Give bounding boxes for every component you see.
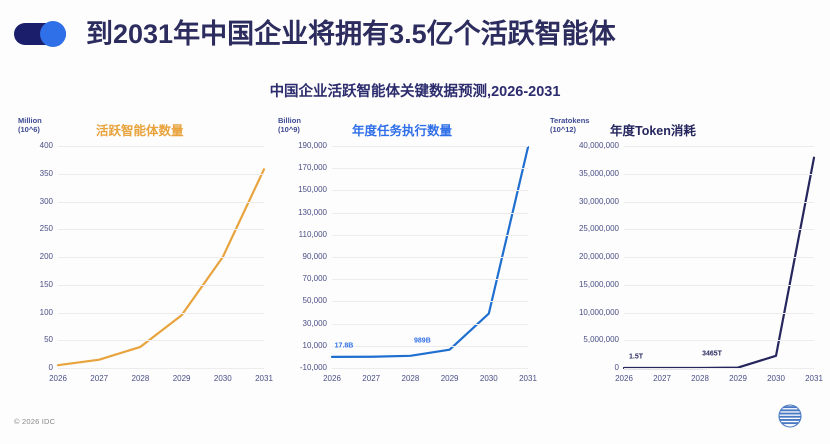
chart-x-tick-label: 2030 (214, 375, 232, 383)
chart-panel-annual-tasks: Billion (10^9) 年度任务执行数量 -10,00010,00030,… (274, 112, 536, 402)
chart-unit-label: Teratokens (10^12) (550, 116, 589, 135)
chart-series-path (624, 158, 814, 368)
chart-series-path (332, 147, 528, 357)
chart-x-tick-label: 2031 (805, 375, 823, 383)
chart-y-tick-label: 25,000,000 (579, 225, 619, 233)
chart-y-tick-label: 30,000,000 (579, 198, 619, 206)
chart-gridline (332, 324, 528, 325)
chart-y-tick-label: 50,000 (303, 297, 327, 305)
chart-gridline (58, 146, 264, 147)
chart-unit-line2: (10^12) (550, 125, 589, 134)
chart-unit-line2: (10^6) (18, 125, 42, 134)
chart-x-tick-label: 2030 (480, 375, 498, 383)
chart-gridline (624, 257, 814, 258)
chart-gridline (624, 229, 814, 230)
chart-gridline (58, 174, 264, 175)
chart-plot-area: 0501001502002503003504002026202720282029… (58, 146, 264, 368)
chart-y-tick-label: 50 (44, 336, 53, 344)
chart-y-tick-label: 200 (40, 253, 53, 261)
chart-gridline (332, 279, 528, 280)
chart-x-tick-label: 2029 (729, 375, 747, 383)
chart-x-tick-label: 2029 (173, 375, 191, 383)
chart-x-tick-label: 2026 (49, 375, 67, 383)
chart-x-tick-label: 2028 (401, 375, 419, 383)
chart-y-tick-label: 20,000,000 (579, 253, 619, 261)
chart-group-subtitle: 中国企业活跃智能体关键数据预测,2026-2031 (0, 80, 830, 101)
chart-x-tick-label: 2026 (615, 375, 633, 383)
chart-y-tick-label: 250 (40, 225, 53, 233)
chart-gridline (624, 146, 814, 147)
chart-unit-line1: Billion (278, 116, 301, 125)
chart-y-tick-label: 10,000,000 (579, 309, 619, 317)
chart-gridline (624, 285, 814, 286)
chart-y-tick-label: 70,000 (303, 275, 327, 283)
chart-gridline (58, 368, 264, 369)
chart-gridline (58, 285, 264, 286)
copyright-text: © 2026 IDC (14, 417, 55, 426)
chart-gridline (58, 257, 264, 258)
slide-header: 到2031年中国企业将拥有3.5亿个活跃智能体 (0, 8, 830, 60)
chart-gridline (58, 313, 264, 314)
chart-gridline (624, 313, 814, 314)
chart-y-tick-label: 90,000 (303, 253, 327, 261)
chart-plot-area: -10,00010,00030,00050,00070,00090,000110… (332, 146, 528, 368)
chart-plot-area: 05,000,00010,000,00015,000,00020,000,000… (624, 146, 814, 368)
chart-data-annotation: 3465T (702, 350, 722, 357)
chart-x-tick-label: 2027 (362, 375, 380, 383)
chart-y-tick-label: 150 (40, 281, 53, 289)
chart-y-tick-label: 100 (40, 309, 53, 317)
chart-y-tick-label: 40,000,000 (579, 142, 619, 150)
chart-y-tick-label: 15,000,000 (579, 281, 619, 289)
chart-gridline (332, 346, 528, 347)
chart-unit-label: Million (10^6) (18, 116, 42, 135)
idc-globe-logo-icon (774, 400, 806, 432)
chart-unit-line1: Teratokens (550, 116, 589, 125)
chart-x-tick-label: 2026 (323, 375, 341, 383)
chart-gridline (332, 257, 528, 258)
chart-y-tick-label: 35,000,000 (579, 170, 619, 178)
chart-gridline (332, 190, 528, 191)
chart-x-tick-label: 2031 (255, 375, 273, 383)
chart-y-tick-label: 170,000 (298, 164, 327, 172)
charts-row: Million (10^6) 活跃智能体数量 05010015020025030… (0, 112, 830, 402)
chart-unit-line2: (10^9) (278, 125, 301, 134)
chart-data-annotation: 1.5T (629, 353, 643, 360)
chart-y-tick-label: 110,000 (299, 231, 327, 239)
chart-y-tick-label: 190,000 (298, 142, 327, 150)
pill-dot-icon (14, 21, 80, 47)
chart-x-tick-label: 2028 (691, 375, 709, 383)
chart-gridline (332, 301, 528, 302)
chart-gridline (58, 340, 264, 341)
slide-canvas: 到2031年中国企业将拥有3.5亿个活跃智能体 中国企业活跃智能体关键数据预测,… (0, 0, 830, 444)
chart-gridline (332, 235, 528, 236)
chart-data-annotation: 17.8B (335, 342, 354, 349)
chart-gridline (624, 174, 814, 175)
page-title: 到2031年中国企业将拥有3.5亿个活跃智能体 (86, 21, 616, 48)
chart-title: 活跃智能体数量 (96, 120, 184, 139)
chart-y-tick-label: 400 (40, 142, 53, 150)
chart-y-tick-label: 0 (615, 364, 619, 372)
chart-gridline (332, 368, 528, 369)
chart-title: 年度Token消耗 (610, 120, 696, 139)
chart-y-tick-label: 30,000 (303, 320, 327, 328)
chart-y-tick-label: 300 (40, 198, 53, 206)
chart-gridline (332, 168, 528, 169)
chart-unit-line1: Million (18, 116, 42, 125)
chart-y-tick-label: 10,000 (303, 342, 327, 350)
chart-unit-label: Billion (10^9) (278, 116, 301, 135)
chart-x-tick-label: 2028 (131, 375, 149, 383)
chart-gridline (624, 340, 814, 341)
chart-panel-active-agents: Million (10^6) 活跃智能体数量 05010015020025030… (14, 112, 272, 402)
chart-gridline (332, 213, 528, 214)
chart-y-tick-label: 130,000 (298, 209, 327, 217)
chart-title: 年度任务执行数量 (352, 120, 452, 139)
chart-gridline (624, 202, 814, 203)
chart-y-tick-label: 5,000,000 (583, 336, 619, 344)
chart-y-tick-label: 350 (40, 170, 53, 178)
chart-y-tick-label: -10,000 (300, 364, 327, 372)
chart-gridline (58, 229, 264, 230)
chart-gridline (332, 146, 528, 147)
dot-circle-shape (40, 21, 66, 47)
chart-x-tick-label: 2029 (441, 375, 459, 383)
chart-data-annotation: 989B (414, 338, 431, 345)
chart-x-tick-label: 2030 (767, 375, 785, 383)
chart-x-tick-label: 2027 (90, 375, 108, 383)
chart-gridline (624, 368, 814, 369)
chart-x-tick-label: 2031 (519, 375, 537, 383)
chart-series-path (58, 169, 264, 365)
chart-y-tick-label: 0 (49, 364, 53, 372)
chart-gridline (58, 202, 264, 203)
chart-x-tick-label: 2027 (653, 375, 671, 383)
chart-panel-token-consumption: Teratokens (10^12) 年度Token消耗 05,000,0001… (546, 112, 822, 402)
chart-y-tick-label: 150,000 (298, 186, 327, 194)
